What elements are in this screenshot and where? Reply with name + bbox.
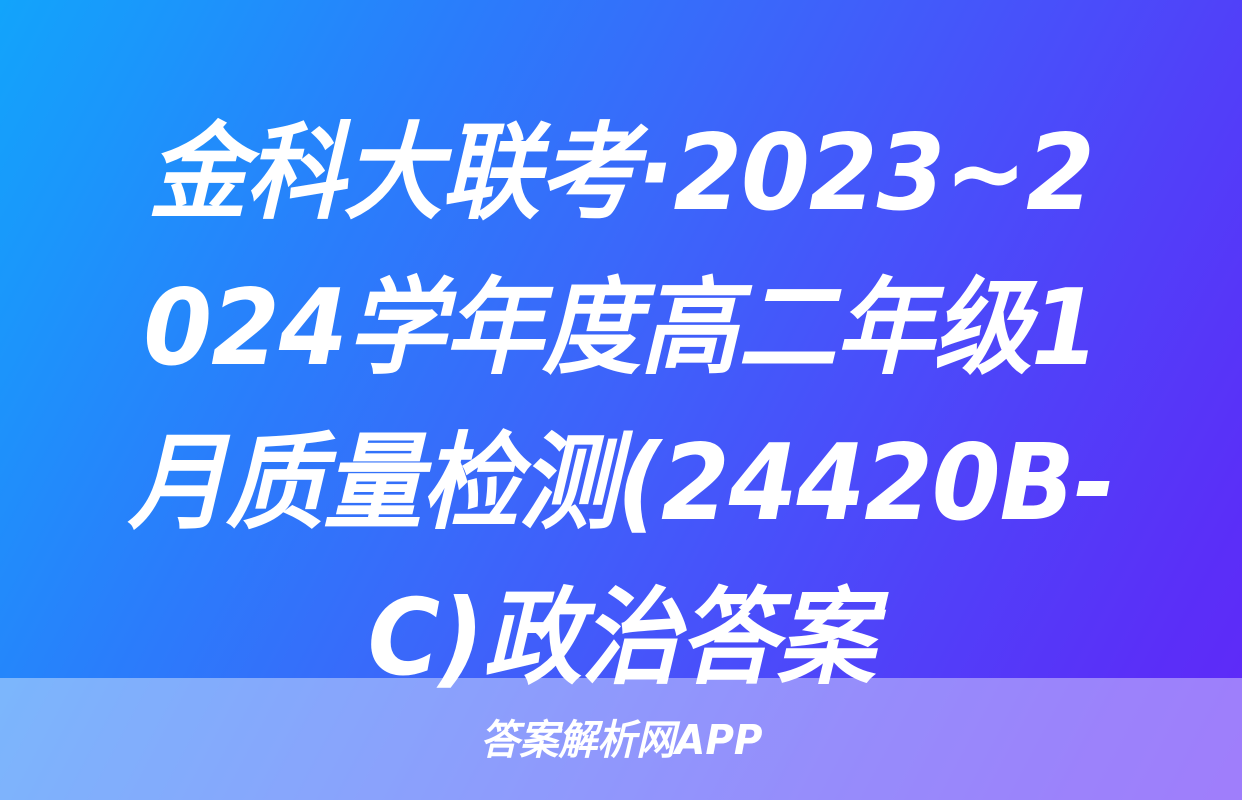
answer-cover-poster: 金科大联考·2023~2024学年度高二年级1月质量检测(24420B-C)政治… bbox=[0, 0, 1242, 800]
page-title: 金科大联考·2023~2024学年度高二年级1月质量检测(24420B-C)政治… bbox=[128, 96, 1115, 716]
app-brand-label: 答案解析网APP bbox=[480, 720, 762, 761]
app-brand-band: 答案解析网APP bbox=[0, 678, 1242, 800]
